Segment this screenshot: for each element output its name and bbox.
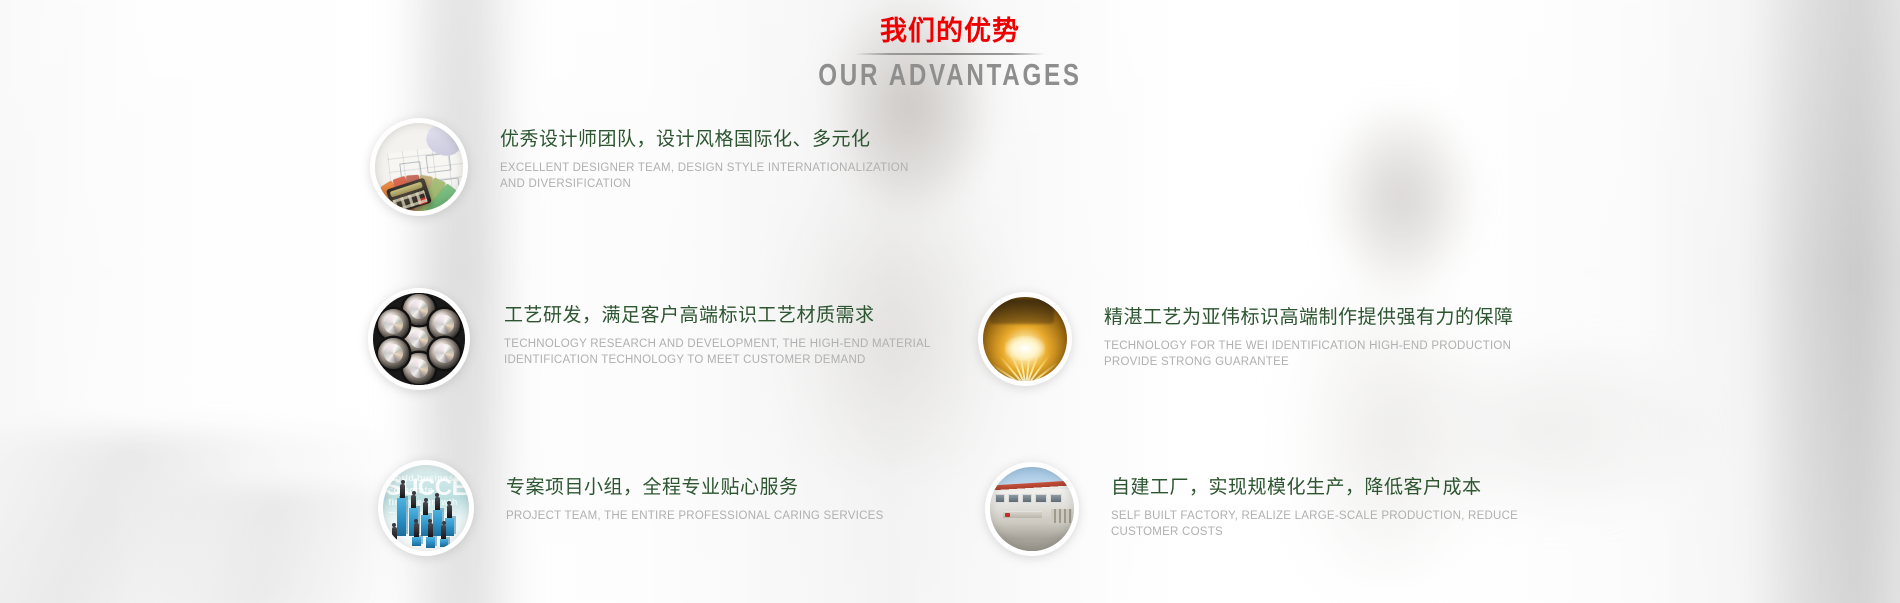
advantage-thumb-wrap <box>368 288 470 390</box>
metal-tube-bundle-icon <box>373 293 465 385</box>
advantage-item-designer-team[interactable]: 优秀设计师团队，设计风格国际化、多元化 EXCELLENT DESIGNER T… <box>370 118 920 216</box>
color-swatch-blueprint-icon <box>375 123 463 211</box>
chart-success-word: SUCCESS <box>386 474 469 502</box>
advantage-item-technology-rnd[interactable]: 工艺研发，满足客户高端标识工艺材质需求 TECHNOLOGY RESEARCH … <box>368 288 944 390</box>
advantage-thumb-wrap: world business corporate finance growth … <box>378 460 474 556</box>
advantage-item-project-team[interactable]: world business corporate finance growth … <box>378 460 884 556</box>
advantage-title-cn: 精湛工艺为亚伟标识高端制作提供强有力的保障 <box>1104 306 1534 330</box>
advantage-text-block: 优秀设计师团队，设计风格国际化、多元化 EXCELLENT DESIGNER T… <box>500 118 920 192</box>
business-bar-chart-icon: world business corporate finance growth … <box>383 465 469 551</box>
advantage-title-en: SELF BUILT FACTORY, REALIZE LARGE-SCALE … <box>1111 508 1541 541</box>
advantage-title-cn: 优秀设计师团队，设计风格国际化、多元化 <box>500 128 920 152</box>
advantage-title-en: TECHNOLOGY RESEARCH AND DEVELOPMENT, THE… <box>504 336 944 369</box>
chart-word-cloud: world business corporate finance growth … <box>388 472 467 513</box>
factory-building-icon <box>990 467 1074 551</box>
advantage-title-en: PROJECT TEAM, THE ENTIRE PROFESSIONAL CA… <box>506 508 884 524</box>
advantage-text-block: 专案项目小组，全程专业贴心服务 PROJECT TEAM, THE ENTIRE… <box>506 460 884 524</box>
page-title-en: OUR ADVANTAGES <box>209 57 1691 93</box>
welding-sparks-icon <box>983 297 1067 381</box>
our-advantages-section: 我们的优势 OUR ADVANTAGES <box>0 0 1900 603</box>
advantage-title-cn: 专案项目小组，全程专业贴心服务 <box>506 476 884 500</box>
advantage-title-en: TECHNOLOGY FOR THE WEI IDENTIFICATION HI… <box>1104 338 1534 371</box>
advantage-text-block: 工艺研发，满足客户高端标识工艺材质需求 TECHNOLOGY RESEARCH … <box>504 288 944 368</box>
advantage-item-craftsmanship-guarantee[interactable]: 精湛工艺为亚伟标识高端制作提供强有力的保障 TECHNOLOGY FOR THE… <box>978 292 1534 386</box>
advantage-thumb-wrap <box>978 292 1072 386</box>
heading-divider <box>855 53 1045 55</box>
page-title-cn: 我们的优势 <box>0 18 1900 46</box>
advantage-title-cn: 工艺研发，满足客户高端标识工艺材质需求 <box>504 304 944 328</box>
advantage-title-en: EXCELLENT DESIGNER TEAM, DESIGN STYLE IN… <box>500 160 920 193</box>
advantage-text-block: 精湛工艺为亚伟标识高端制作提供强有力的保障 TECHNOLOGY FOR THE… <box>1104 292 1534 370</box>
advantage-item-self-built-factory[interactable]: 自建工厂，实现规模化生产，降低客户成本 SELF BUILT FACTORY, … <box>985 462 1541 556</box>
advantage-text-block: 自建工厂，实现规模化生产，降低客户成本 SELF BUILT FACTORY, … <box>1111 462 1541 540</box>
section-heading: 我们的优势 OUR ADVANTAGES <box>0 18 1900 93</box>
advantage-thumb-wrap <box>370 118 468 216</box>
advantage-thumb-wrap <box>985 462 1079 556</box>
advantage-title-cn: 自建工厂，实现规模化生产，降低客户成本 <box>1111 476 1541 500</box>
